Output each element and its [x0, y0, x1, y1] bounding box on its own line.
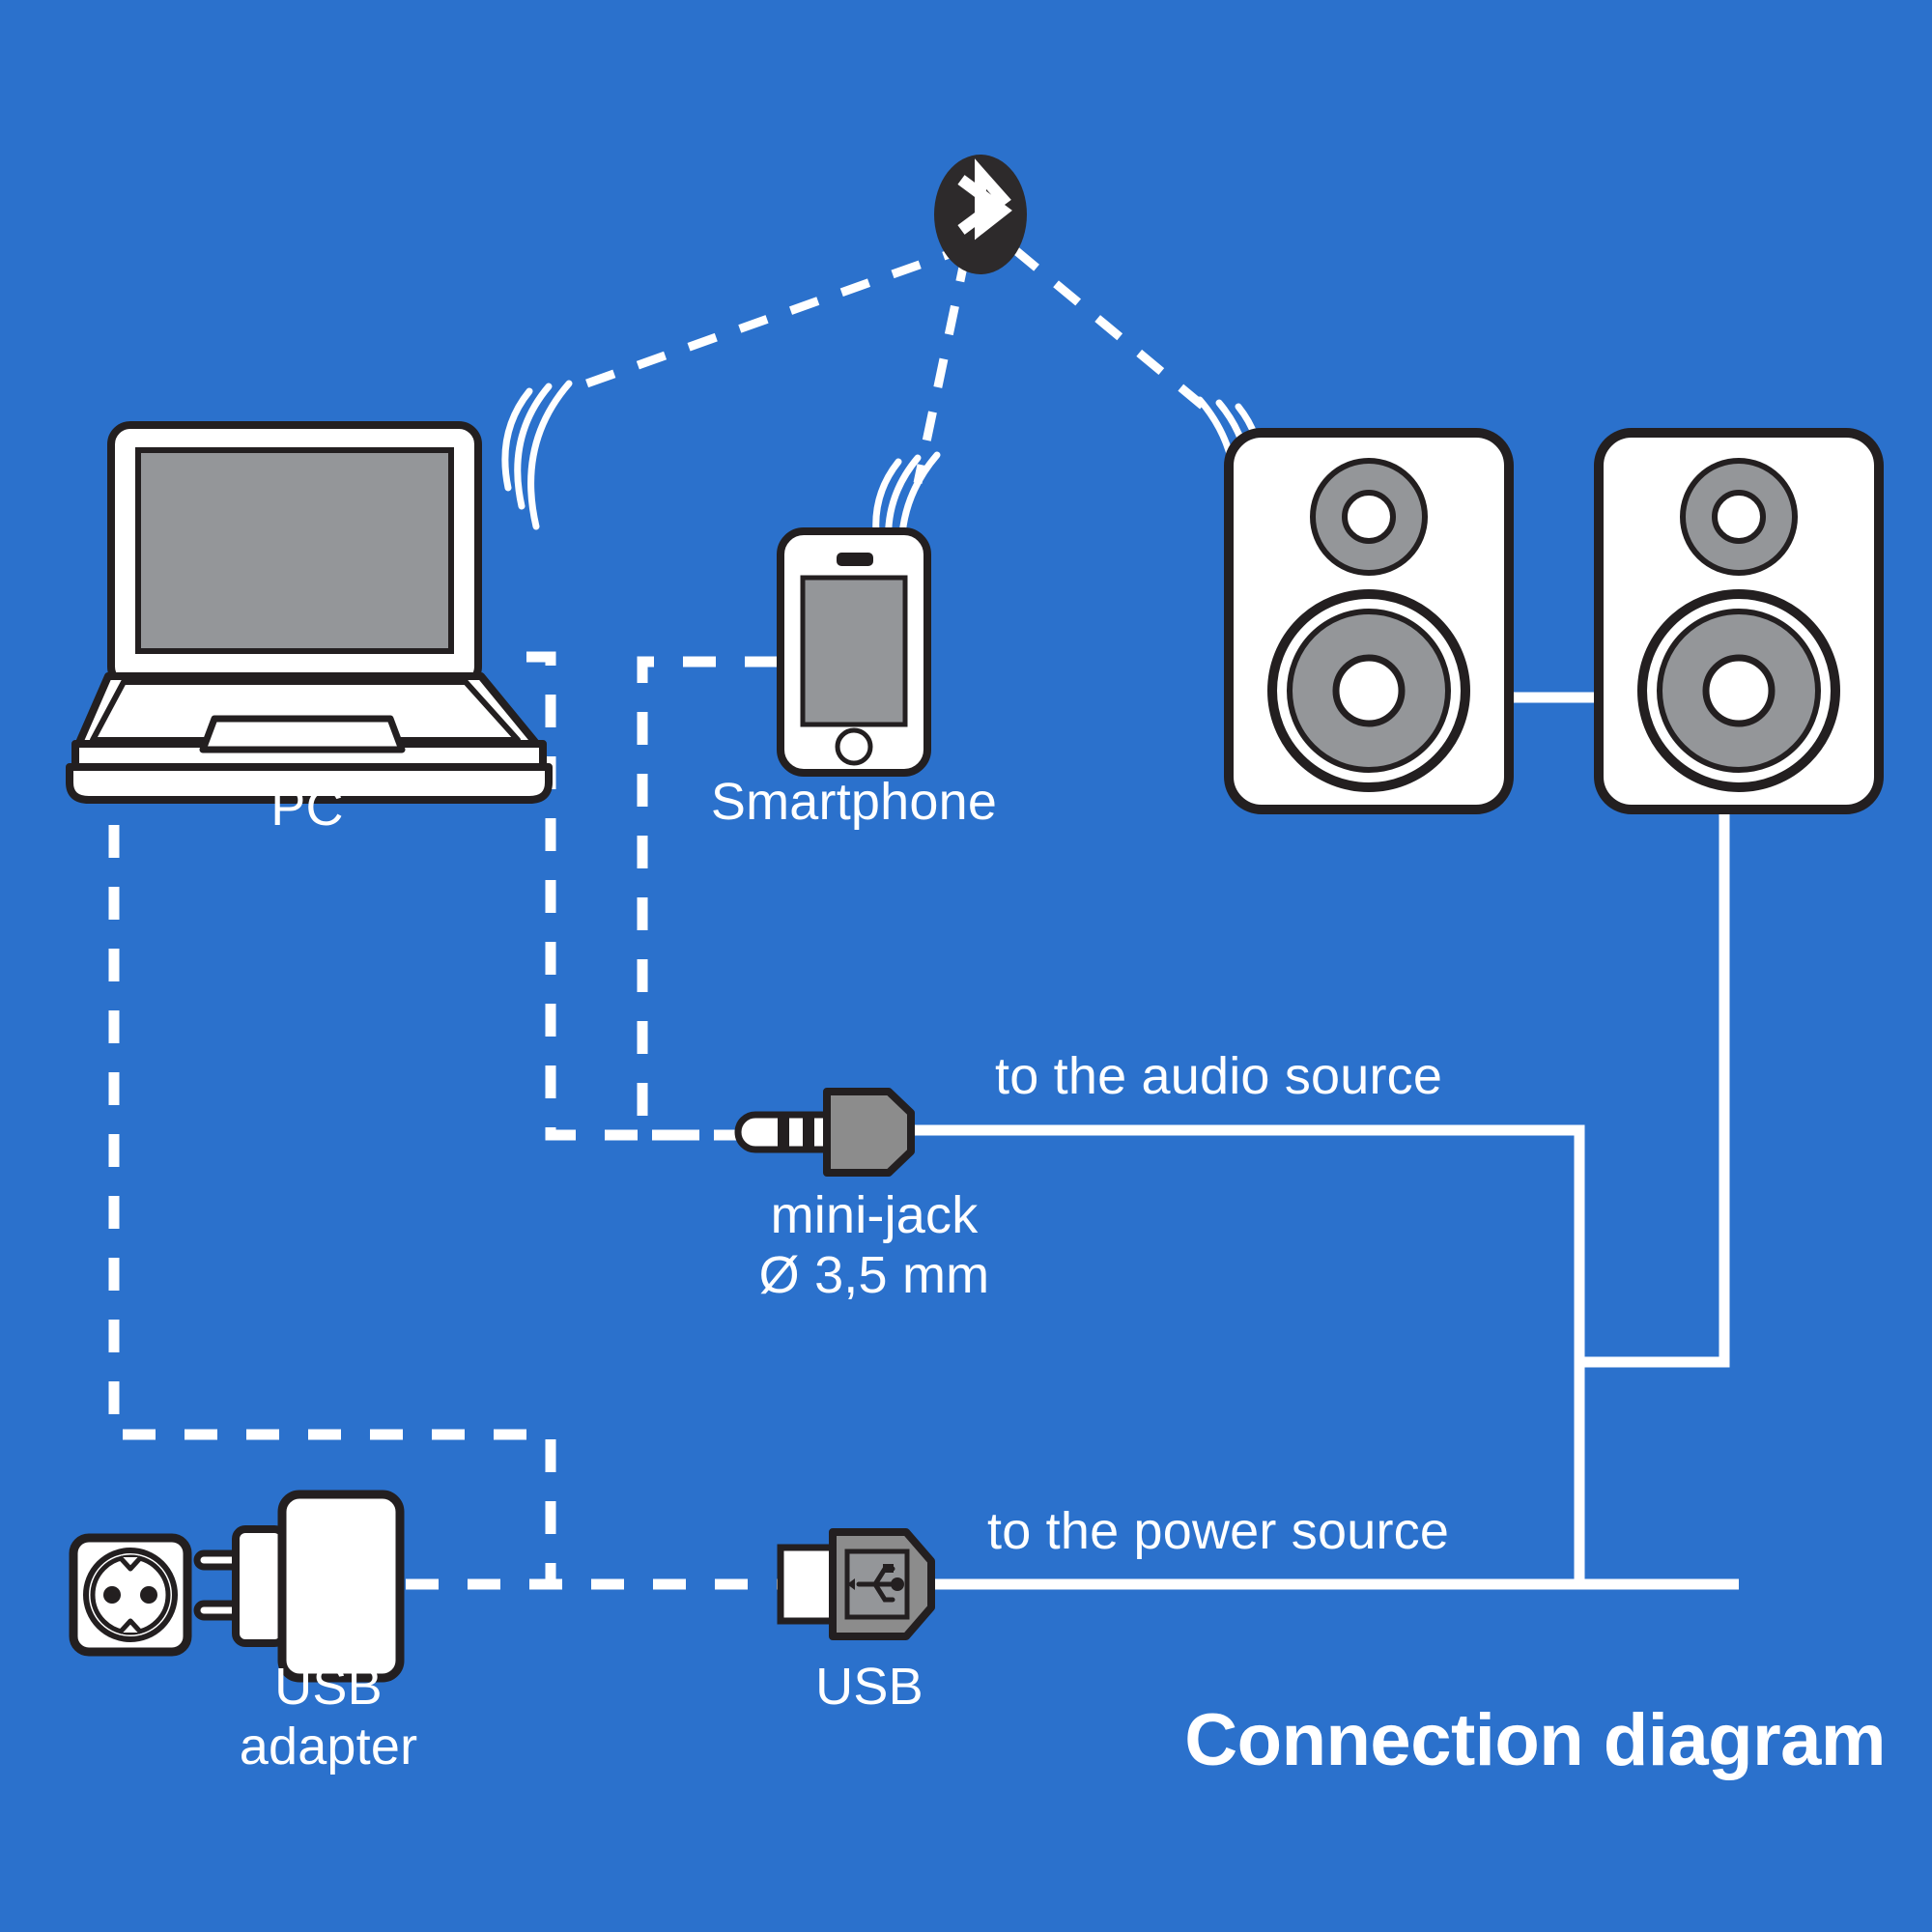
label-usb-adapter-line2: adapter	[240, 1718, 418, 1776]
device-layer	[0, 0, 1932, 1932]
usb-connector-icon[interactable]	[781, 1532, 931, 1636]
speaker-icon-right[interactable]	[1599, 433, 1879, 810]
wave-arcs-pc	[505, 384, 569, 526]
smartphone-icon[interactable]	[781, 531, 927, 773]
label-pc: PC	[270, 779, 343, 837]
label-minijack-line1: mini-jack	[771, 1186, 979, 1244]
label-power-cable: to the power source	[987, 1502, 1449, 1560]
speaker-icon-left[interactable]	[1229, 433, 1509, 810]
label-minijack-line2: Ø 3,5 mm	[759, 1246, 990, 1304]
label-audio-cable: to the audio source	[995, 1047, 1442, 1105]
laptop-icon[interactable]	[70, 425, 549, 800]
wall-socket-icon	[73, 1538, 187, 1652]
connection-diagram-canvas: PC Smartphone to the audio source mini-j…	[0, 0, 1932, 1932]
minijack-connector-icon[interactable]	[738, 1092, 911, 1173]
usb-adapter-icon[interactable]	[197, 1494, 400, 1678]
bluetooth-icon[interactable]	[934, 155, 1027, 274]
label-usb: USB	[815, 1658, 923, 1716]
label-smartphone: Smartphone	[711, 773, 997, 831]
label-usb-adapter-line1: USB	[274, 1658, 383, 1716]
page-title: Connection diagram	[1184, 1698, 1886, 1782]
